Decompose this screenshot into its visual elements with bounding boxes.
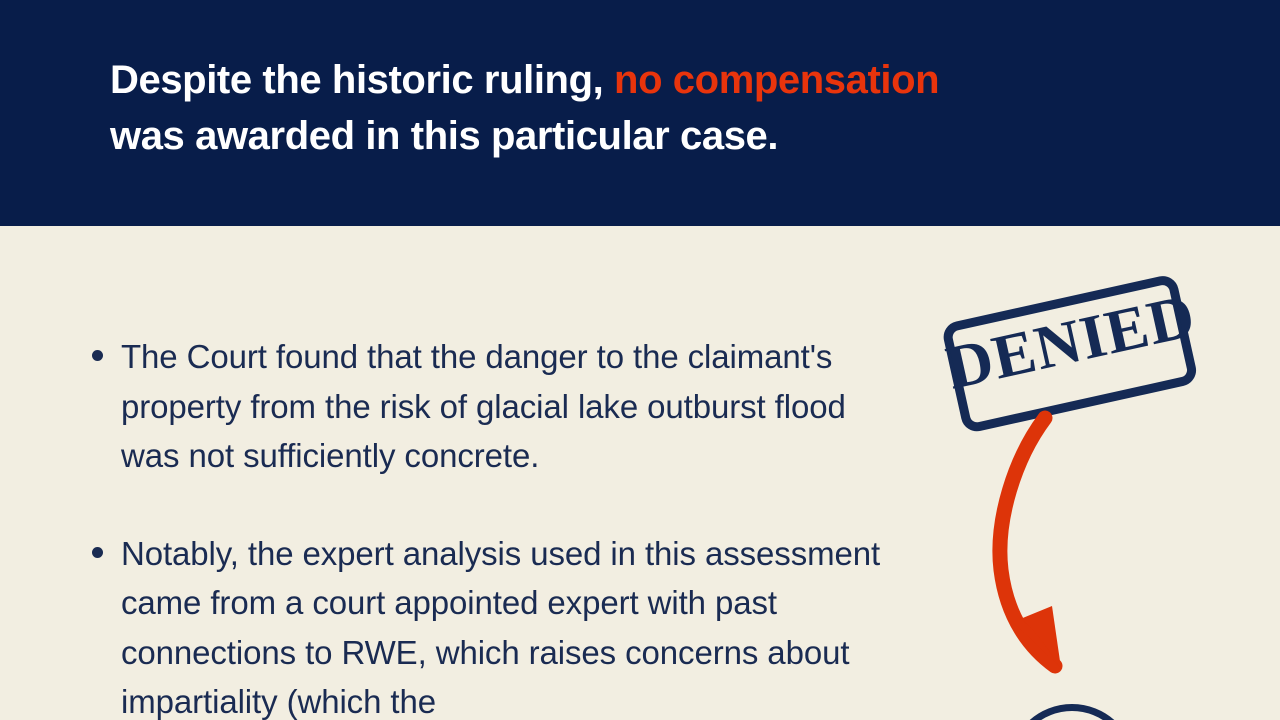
slide-canvas: Despite the historic ruling, no compensa… — [0, 0, 1280, 720]
headline-line2: was awarded in this particular case. — [110, 114, 778, 158]
list-item: The Court found that the danger to the c… — [88, 332, 908, 481]
bullet-dot-icon — [92, 350, 103, 361]
headline-accent-phrase: no compensation — [614, 58, 939, 102]
curved-arrow-icon — [985, 410, 1095, 680]
headline-line1-plain: Despite the historic ruling, — [110, 58, 614, 102]
header-band: Despite the historic ruling, no compensa… — [0, 0, 1280, 226]
list-item-label: Notably, the expert analysis used in thi… — [121, 529, 908, 720]
bullet-dot-icon — [92, 547, 103, 558]
list-item-label: The Court found that the danger to the c… — [121, 332, 908, 481]
page-title: Despite the historic ruling, no compensa… — [110, 52, 1110, 164]
bullet-list: The Court found that the danger to the c… — [88, 332, 908, 720]
list-item: Notably, the expert analysis used in thi… — [88, 529, 908, 720]
round-stamp-icon — [1008, 704, 1136, 720]
